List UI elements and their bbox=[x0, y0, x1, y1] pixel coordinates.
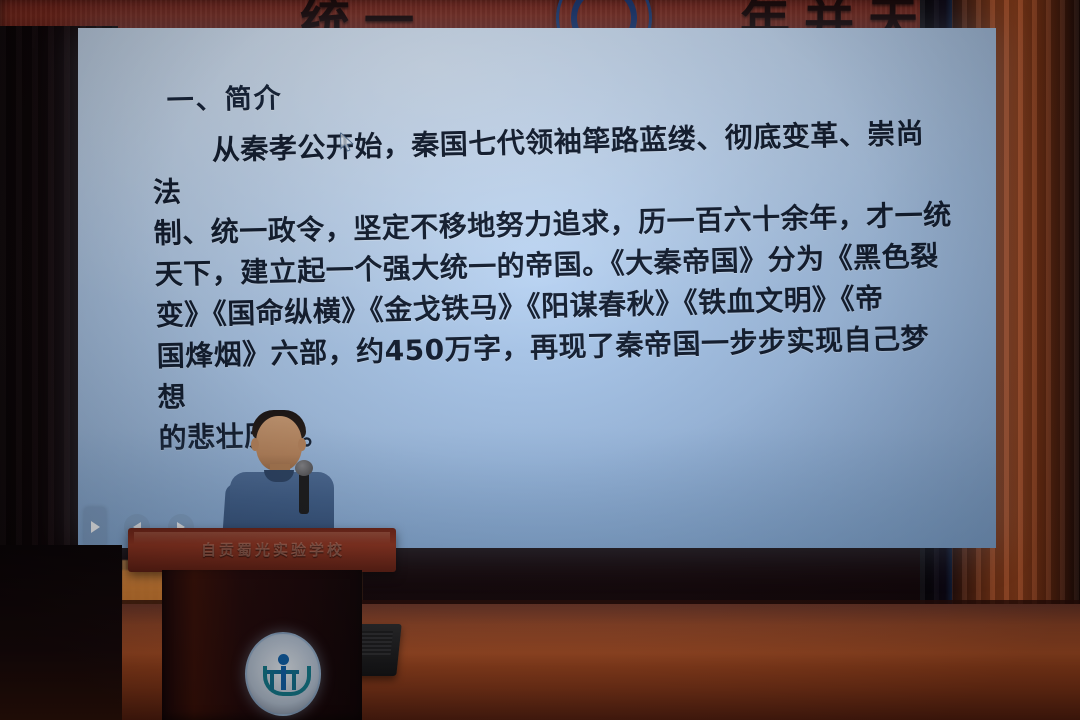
lecture-hall-photo: 统一 年并天下 一、简介 从秦孝公开始，秦国七代领袖筚路蓝缕、彻底变革、崇尚法 … bbox=[0, 0, 1080, 720]
emblem-head-dot bbox=[278, 654, 289, 665]
microphone-stem bbox=[299, 470, 309, 514]
emblem-stroke-right bbox=[292, 670, 296, 690]
presenter-ear-left bbox=[251, 438, 259, 451]
projection-screen: 一、简介 从秦孝公开始，秦国七代领袖筚路蓝缕、彻底变革、崇尚法 制、统一政令，坚… bbox=[78, 28, 996, 548]
emblem-figure bbox=[261, 652, 305, 696]
presenter-head bbox=[256, 416, 302, 471]
presenter bbox=[226, 412, 338, 540]
emblem-stroke-center bbox=[281, 666, 286, 690]
play-button[interactable] bbox=[84, 507, 106, 547]
play-icon bbox=[91, 521, 100, 533]
presenter-ear-right bbox=[298, 438, 306, 451]
screen-surface: 一、简介 从秦孝公开始，秦国七代领袖筚路蓝缕、彻底变革、崇尚法 制、统一政令，坚… bbox=[78, 28, 996, 548]
foreground-curtain-base bbox=[0, 545, 122, 720]
school-emblem-icon bbox=[245, 632, 321, 716]
microphone-icon bbox=[295, 460, 313, 476]
emblem-stroke-left bbox=[270, 670, 274, 690]
podium-nameplate: 自贡蜀光实验学校 bbox=[186, 538, 360, 560]
